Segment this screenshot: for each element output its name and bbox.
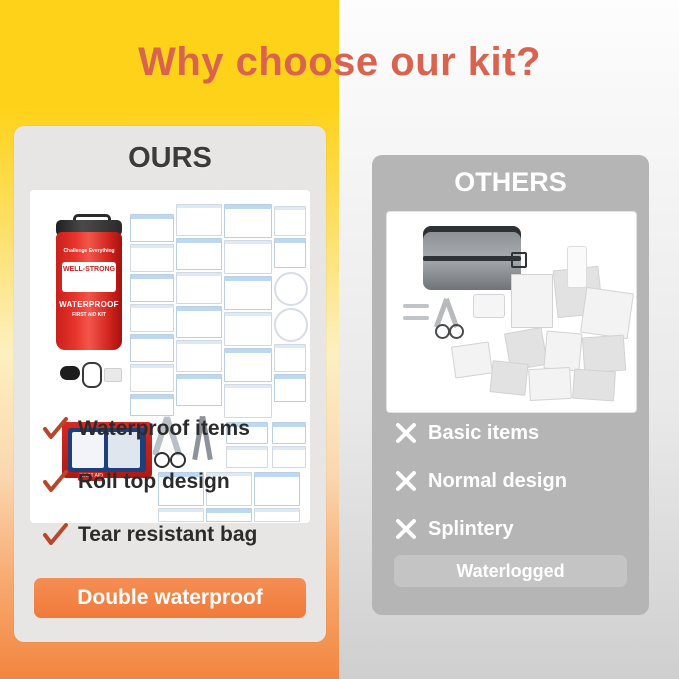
others-product-photo — [386, 211, 637, 413]
others-feature-1: Basic items — [394, 421, 539, 445]
bag-kit-text: FIRST AID KIT — [58, 312, 120, 318]
supply-packet — [272, 446, 306, 468]
supply-packet — [206, 508, 252, 522]
others-feature-2: Normal design — [394, 469, 567, 493]
supply-packet — [176, 238, 222, 270]
others-title: OTHERS — [372, 167, 649, 198]
others-panel: OTHERS — [372, 155, 649, 615]
ours-title: OURS — [14, 142, 326, 175]
gauze-packet — [451, 342, 493, 379]
ours-badge: Double waterproof — [34, 578, 306, 618]
supply-packet — [224, 348, 272, 382]
scissors-handle — [170, 452, 186, 468]
page-title: Why choose our kit? — [0, 40, 679, 85]
gauze-packet — [582, 335, 626, 374]
ours-feature-3: Tear resistant bag — [42, 522, 257, 548]
supply-packet — [226, 446, 268, 468]
ours-feature-2: Roll top design — [42, 469, 230, 495]
gauze-packet — [528, 367, 572, 401]
others-feature-2-label: Normal design — [428, 470, 567, 493]
others-badge: Waterlogged — [394, 555, 627, 587]
supply-packet — [224, 204, 272, 238]
scissors-handle — [154, 452, 170, 468]
supply-packet — [130, 304, 174, 332]
carabiner-icon — [82, 362, 102, 388]
others-feature-3: Splintery — [394, 517, 514, 541]
supply-packet — [254, 508, 300, 522]
x-icon — [394, 469, 418, 493]
infographic-page: Why choose our kit? OURS Challenge Every… — [0, 0, 679, 679]
supply-packet — [274, 374, 306, 402]
other-bag-zipper — [423, 256, 521, 261]
x-icon — [394, 421, 418, 445]
tape-roll — [473, 294, 505, 318]
others-feature-1-label: Basic items — [428, 422, 539, 445]
supply-packet — [274, 206, 306, 236]
supply-packet — [272, 422, 306, 444]
saline-bottle — [567, 246, 587, 288]
alcohol-pad — [543, 331, 582, 372]
supply-packet — [254, 472, 300, 506]
supply-packet — [158, 508, 204, 522]
ours-feature-3-label: Tear resistant bag — [78, 523, 257, 547]
ours-feature-1-label: Waterproof items — [78, 417, 250, 441]
supply-packet — [130, 274, 174, 302]
check-icon — [42, 522, 68, 548]
bag-waterproof-text: WATERPROOF — [58, 300, 120, 309]
safety-pin-icon — [403, 304, 429, 308]
supply-packet — [176, 306, 222, 338]
bag-brand-name: WELL-STRONG — [62, 266, 116, 273]
ours-feature-2-label: Roll top design — [78, 470, 230, 494]
supply-packet — [224, 276, 272, 310]
supply-packet — [176, 272, 222, 304]
safety-pin-icon — [403, 316, 429, 320]
scissors-handle — [435, 324, 450, 339]
check-icon — [42, 469, 68, 495]
gauze-packet — [580, 287, 634, 339]
supply-packet — [176, 340, 222, 372]
supply-packet — [176, 374, 222, 406]
check-icon — [42, 416, 68, 442]
supply-packet — [224, 240, 272, 274]
gauze-packet — [572, 369, 616, 402]
supply-packet — [130, 394, 174, 416]
supply-packet — [224, 312, 272, 346]
scissors-handle — [449, 324, 464, 339]
gauze-roll — [274, 272, 308, 306]
bag-brand-text: Challenge Everything — [60, 248, 118, 254]
supply-packet — [274, 344, 306, 372]
ours-panel: OURS Challenge Everything WELL-STRONG WA… — [14, 126, 326, 642]
x-icon — [394, 517, 418, 541]
other-bag-zipper-pull — [511, 252, 527, 268]
supply-packet — [224, 384, 272, 418]
supply-packet — [130, 334, 174, 362]
supply-packet — [274, 238, 306, 268]
supply-packet — [130, 244, 174, 272]
tape-roll — [274, 308, 308, 342]
safety-pin-card — [104, 368, 122, 382]
alcohol-pad — [489, 360, 528, 396]
supply-packet — [130, 214, 174, 242]
supply-packet — [130, 364, 174, 392]
others-feature-3-label: Splintery — [428, 518, 514, 541]
ours-feature-1: Waterproof items — [42, 416, 250, 442]
supply-packet — [176, 204, 222, 236]
other-bag — [423, 232, 521, 290]
whistle-icon — [60, 366, 80, 380]
gauze-packet — [511, 274, 553, 328]
